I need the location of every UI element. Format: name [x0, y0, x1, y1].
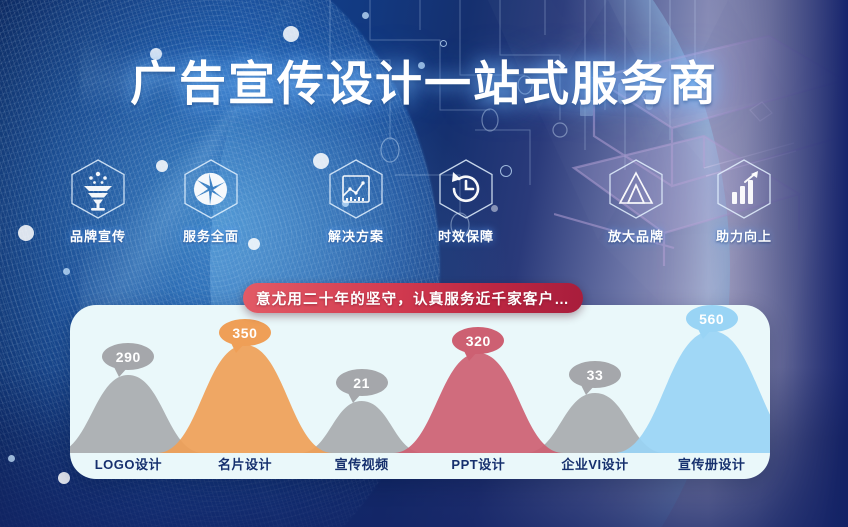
network-node	[362, 12, 369, 19]
value-bubble-text: 350	[232, 325, 257, 341]
value-bubble-text: 320	[466, 333, 491, 349]
feature-label: 解决方案	[310, 226, 402, 245]
feature-item-solution[interactable]: 解决方案	[310, 158, 402, 245]
feature-label: 品牌宣传	[52, 226, 144, 245]
value-bubble-tail	[464, 351, 478, 361]
category-label: 名片设计	[218, 454, 272, 473]
value-bubble: 33	[569, 361, 621, 388]
poster-canvas: 广告宣传设计一站式服务商	[0, 0, 848, 527]
value-bubble: 350	[219, 319, 271, 346]
slogan-banner: 意尤用二十年的坚守，认真服务近千家客户…	[243, 283, 583, 313]
network-node-ring	[440, 40, 447, 47]
value-bubble-tail	[114, 367, 128, 377]
value-bubble: 21	[336, 369, 388, 396]
value-bubble-text: 21	[353, 375, 370, 391]
page-title: 广告宣传设计一站式服务商	[0, 56, 848, 112]
value-bubble-tail	[581, 385, 595, 395]
feature-label: 助力向上	[698, 226, 790, 245]
value-bubble: 290	[102, 343, 154, 370]
chart-analytics-icon	[310, 158, 402, 220]
value-bubble: 320	[452, 327, 504, 354]
value-bubble: 560	[686, 305, 738, 332]
category-label: 宣传册设计	[678, 454, 746, 473]
value-bubble-text: 560	[699, 311, 724, 327]
network-node	[63, 268, 70, 275]
category-label: 企业VI设计	[561, 454, 628, 473]
feature-item-amplify[interactable]: 放大品牌	[590, 158, 682, 245]
network-node	[8, 455, 15, 462]
value-bubble-text: 33	[587, 367, 604, 383]
value-bubble-tail	[348, 393, 362, 403]
category-label-group: LOGO设计名片设计宣传视频PPT设计企业VI设计宣传册设计	[70, 449, 770, 479]
feature-label: 放大品牌	[590, 226, 682, 245]
bar-chart-arrow-up-icon	[698, 158, 790, 220]
trophy-bowl-icon	[52, 158, 144, 220]
network-node	[58, 472, 70, 484]
feature-label: 服务全面	[165, 226, 257, 245]
feature-item-service[interactable]: 服务全面	[165, 158, 257, 245]
value-bubble-text: 290	[116, 349, 141, 365]
category-label: PPT设计	[451, 454, 505, 473]
feature-item-brand[interactable]: 品牌宣传	[52, 158, 144, 245]
value-bubble-group: 2903502132033560	[70, 305, 770, 453]
value-bubble-tail	[231, 343, 245, 353]
triangle-pyramid-icon	[590, 158, 682, 220]
clock-rewind-icon	[420, 158, 512, 220]
value-bubble-tail	[698, 329, 712, 339]
feature-item-timeliness[interactable]: 时效保障	[420, 158, 512, 245]
feature-icon-row: 品牌宣传 服务全面	[0, 158, 848, 250]
feature-label: 时效保障	[420, 226, 512, 245]
network-node	[283, 26, 299, 42]
aperture-icon	[165, 158, 257, 220]
chart-card: 2903502132033560 LOGO设计名片设计宣传视频PPT设计企业VI…	[70, 305, 770, 479]
category-label: LOGO设计	[95, 454, 162, 473]
feature-item-growth[interactable]: 助力向上	[698, 158, 790, 245]
category-label: 宣传视频	[335, 454, 389, 473]
